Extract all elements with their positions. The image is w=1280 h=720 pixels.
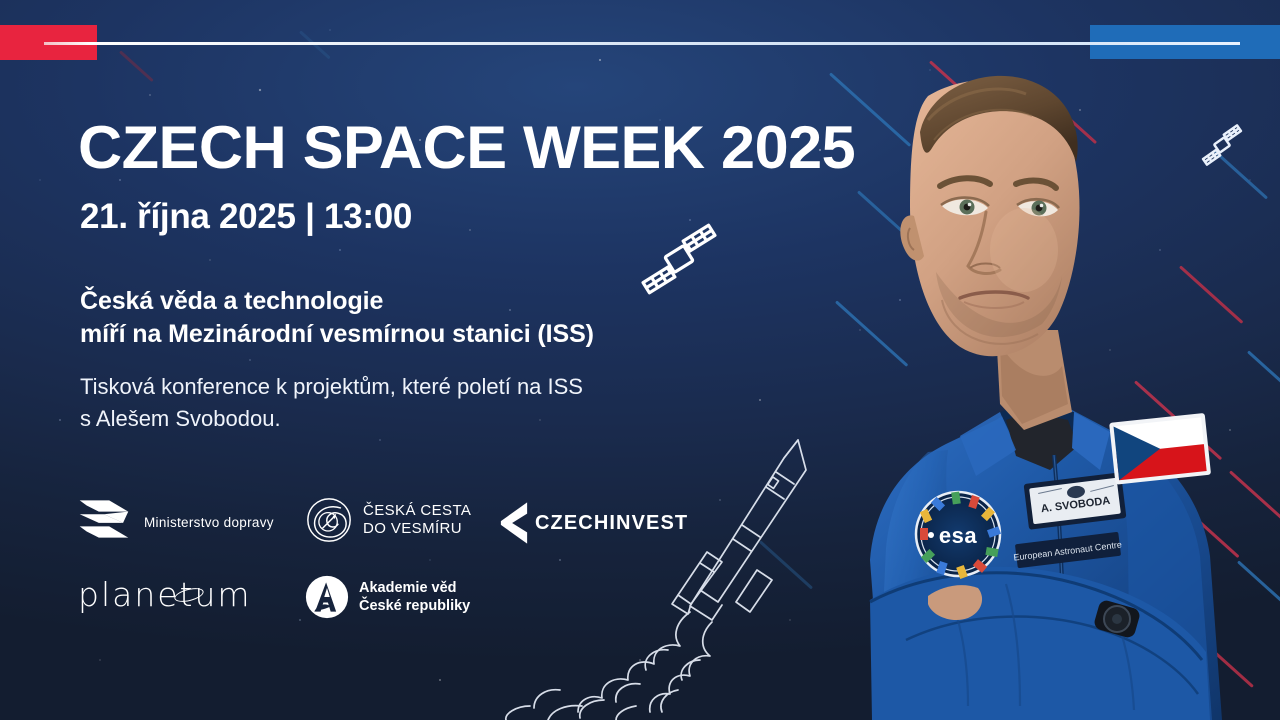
event-headline: Česká věda a technologie míří na Mezinár… bbox=[80, 285, 594, 351]
poster-canvas: esa A. SVOBODA European Astronaut Centre bbox=[0, 0, 1280, 720]
logo-akademie-ved: Akademie věd České republiky bbox=[305, 575, 470, 619]
logo-ministerstvo-dopravy: Ministerstvo dopravy bbox=[78, 498, 274, 546]
svg-text:esa: esa bbox=[939, 523, 977, 548]
logo-label-planetum: planetum bbox=[78, 575, 252, 614]
ccv-line-2: DO VESMÍRU bbox=[363, 520, 462, 537]
czech-flag-patch bbox=[1109, 413, 1211, 485]
ccv-line-1: ČESKÁ CESTA bbox=[363, 502, 471, 519]
letter-a-circle-icon bbox=[305, 575, 349, 619]
spiral-galaxy-icon bbox=[306, 497, 352, 543]
page-title: CZECH SPACE WEEK 2025 bbox=[78, 118, 855, 178]
event-datetime: 21. října 2025 | 13:00 bbox=[80, 199, 412, 234]
logo-label-ceska-cesta-do-vesmiru: ČESKÁ CESTA DO VESMÍRU bbox=[363, 502, 471, 539]
event-description: Tisková konference k projektům, které po… bbox=[80, 371, 583, 435]
description-line-1: Tisková konference k projektům, které po… bbox=[80, 371, 583, 403]
logo-ceska-cesta-do-vesmiru: ČESKÁ CESTA DO VESMÍRU bbox=[306, 497, 471, 543]
headline-line-1: Česká věda a technologie bbox=[80, 285, 594, 318]
logo-label-akademie-ved: Akademie věd České republiky bbox=[359, 579, 470, 615]
astronaut-portrait: esa A. SVOBODA European Astronaut Centre bbox=[810, 0, 1280, 720]
av-line-2: České republiky bbox=[359, 598, 470, 614]
headline-line-2: míří na Mezinárodní vesmírnou stanici (I… bbox=[80, 318, 594, 351]
description-line-2: s Alešem Svobodou. bbox=[80, 403, 583, 435]
angle-bracket-icon bbox=[499, 500, 529, 546]
logo-czechinvest: CZECHINVEST bbox=[499, 500, 688, 546]
logo-planetum: planetum bbox=[78, 575, 252, 614]
poster-content: CZECH SPACE WEEK 2025 21. října 2025 | 1… bbox=[78, 0, 878, 720]
logo-label-ministerstvo-dopravy: Ministerstvo dopravy bbox=[144, 515, 274, 530]
av-line-1: Akademie věd bbox=[359, 580, 457, 596]
partner-logo-row-2: planetum Akademie věd České republiky bbox=[78, 575, 252, 623]
logo-label-czechinvest: CZECHINVEST bbox=[535, 512, 688, 535]
chevron-arrow-icon bbox=[78, 498, 130, 546]
astronaut-head bbox=[900, 76, 1079, 356]
